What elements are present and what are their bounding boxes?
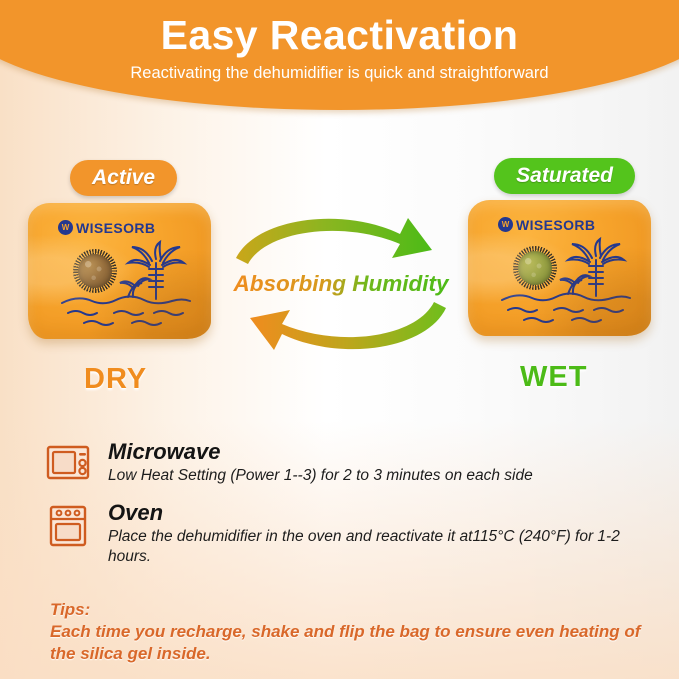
brand-name: WISESORB bbox=[76, 221, 155, 235]
dehumidifier-bag-dry: W WISESORB bbox=[28, 203, 211, 339]
oven-icon bbox=[46, 501, 96, 554]
header-banner: Easy Reactivation Reactivating the dehum… bbox=[0, 0, 679, 110]
infographic-page: Easy Reactivation Reactivating the dehum… bbox=[0, 0, 679, 679]
page-title: Easy Reactivation bbox=[161, 14, 519, 57]
instructions-list: Microwave Low Heat Setting (Power 1--3) … bbox=[46, 440, 646, 581]
brand-logo-wet: W WISESORB bbox=[498, 217, 595, 232]
page-subtitle: Reactivating the dehumidifier is quick a… bbox=[130, 64, 548, 83]
dehumidifier-bag-wet: W WISESORB bbox=[468, 200, 651, 336]
instruction-item-microwave: Microwave Low Heat Setting (Power 1--3) … bbox=[46, 440, 646, 487]
status-badge-active: Active bbox=[70, 160, 177, 196]
tips-label: Tips: bbox=[50, 600, 650, 620]
wisesorb-mark-icon: W bbox=[498, 217, 513, 232]
instruction-item-oven: Oven Place the dehumidifier in the oven … bbox=[46, 501, 646, 567]
state-label-wet: WET bbox=[520, 361, 587, 394]
instruction-title: Oven bbox=[108, 501, 646, 525]
instruction-description: Place the dehumidifier in the oven and r… bbox=[108, 527, 646, 567]
wisesorb-mark-icon: W bbox=[58, 220, 73, 235]
tips-section: Tips: Each time you recharge, shake and … bbox=[50, 600, 650, 665]
tips-text: Each time you recharge, shake and flip t… bbox=[50, 621, 650, 665]
cycle-arrows-icon: Absorbing Humidity bbox=[232, 212, 450, 357]
instruction-title: Microwave bbox=[108, 440, 646, 464]
absorption-cycle: Absorbing Humidity bbox=[232, 212, 450, 357]
microwave-icon bbox=[46, 440, 96, 487]
brand-name: WISESORB bbox=[516, 218, 595, 232]
indicator-core bbox=[518, 251, 552, 285]
status-badge-saturated: Saturated bbox=[494, 158, 635, 194]
instruction-description: Low Heat Setting (Power 1--3) for 2 to 3… bbox=[108, 466, 646, 486]
state-label-dry: DRY bbox=[84, 363, 147, 396]
cycle-label: Absorbing Humidity bbox=[233, 271, 450, 296]
humidity-indicator-wet bbox=[513, 246, 557, 290]
indicator-core bbox=[78, 254, 112, 288]
brand-logo-dry: W WISESORB bbox=[58, 220, 155, 235]
humidity-indicator-dry bbox=[73, 249, 117, 293]
